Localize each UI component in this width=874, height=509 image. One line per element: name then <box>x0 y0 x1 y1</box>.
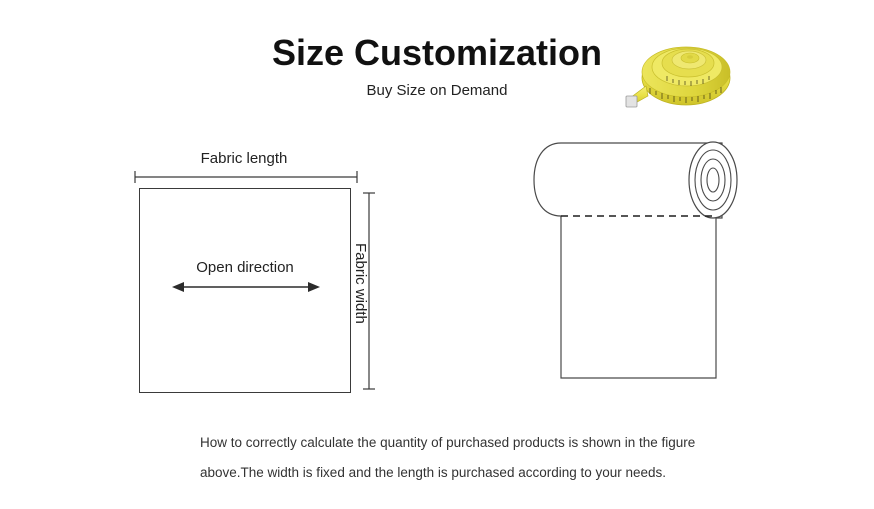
left-fabric-piece-diagram: Fabric length Fabric width Open directio… <box>0 0 440 430</box>
caption-text: How to correctly calculate the quantity … <box>200 428 740 488</box>
fabric-length-dimension-line <box>130 168 362 186</box>
double-arrow-horizontal-icon <box>170 279 322 295</box>
size-customization-infographic: Size Customization Buy Size on Demand <box>0 0 874 509</box>
fabric-width-label: Fabric width <box>352 243 369 324</box>
fabric-roll-icon <box>500 140 780 390</box>
open-direction-label: Open direction <box>140 259 350 276</box>
right-fabric-roll-diagram: Open direction 1 m/piece Your custom len… <box>440 0 874 430</box>
fabric-length-label: Fabric length <box>130 150 358 167</box>
